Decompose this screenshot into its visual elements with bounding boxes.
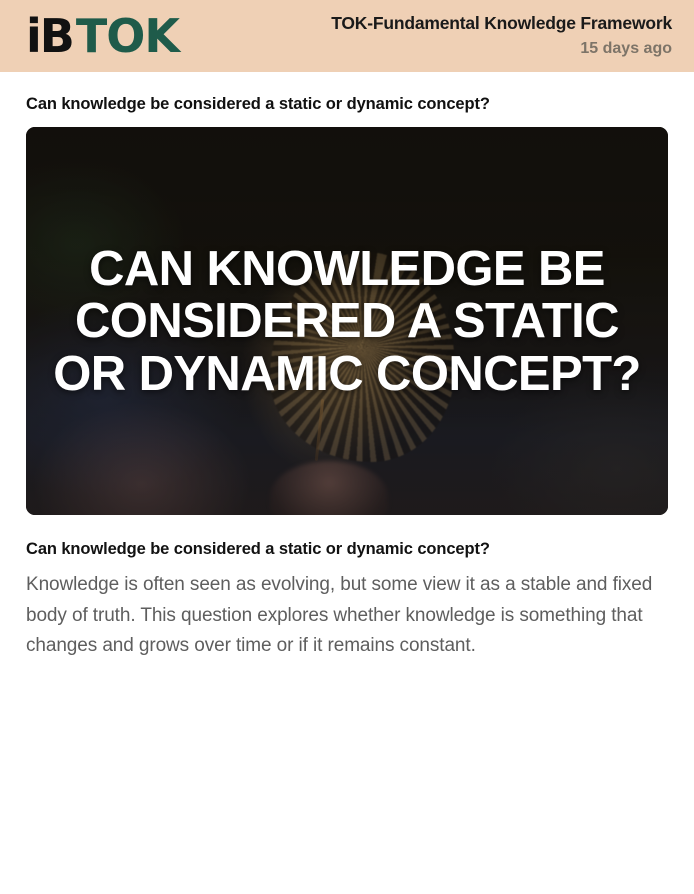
logo-text-tok: TOK [76, 13, 179, 59]
hero-overlay-text-label: Can knowledge be considered a static or … [44, 243, 650, 400]
hero-image-card[interactable]: Can knowledge be considered a static or … [26, 127, 668, 515]
body-paragraph: Knowledge is often seen as evolving, but… [26, 570, 666, 662]
page-header: iB TOK TOK-Fundamental Knowledge Framewo… [0, 0, 694, 72]
logo-text-ib: iB [26, 13, 73, 59]
body-heading: Can knowledge be considered a static or … [26, 539, 668, 560]
header-meta: TOK-Fundamental Knowledge Framework 15 d… [331, 13, 672, 59]
page-title: TOK-Fundamental Knowledge Framework [331, 13, 672, 35]
hero-overlay-text: Can knowledge be considered a static or … [26, 127, 668, 515]
ibtok-logo[interactable]: iB TOK [26, 13, 179, 59]
timestamp-label: 15 days ago [331, 39, 672, 59]
question-heading: Can knowledge be considered a static or … [26, 94, 668, 115]
content-area: Can knowledge be considered a static or … [0, 94, 694, 662]
